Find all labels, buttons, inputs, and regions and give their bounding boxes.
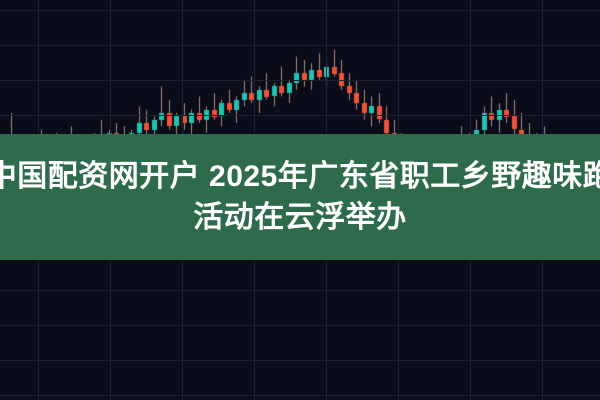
headline-line-1: 中国配资网开户 2025年广东省职工乡野趣味跑: [0, 156, 600, 197]
promo-banner: 中国配资网开户 2025年广东省职工乡野趣味跑 活动在云浮举办: [0, 0, 600, 400]
green-title-band: 中国配资网开户 2025年广东省职工乡野趣味跑 活动在云浮举办: [0, 134, 600, 260]
headline-line-2: 活动在云浮举办: [193, 197, 407, 238]
